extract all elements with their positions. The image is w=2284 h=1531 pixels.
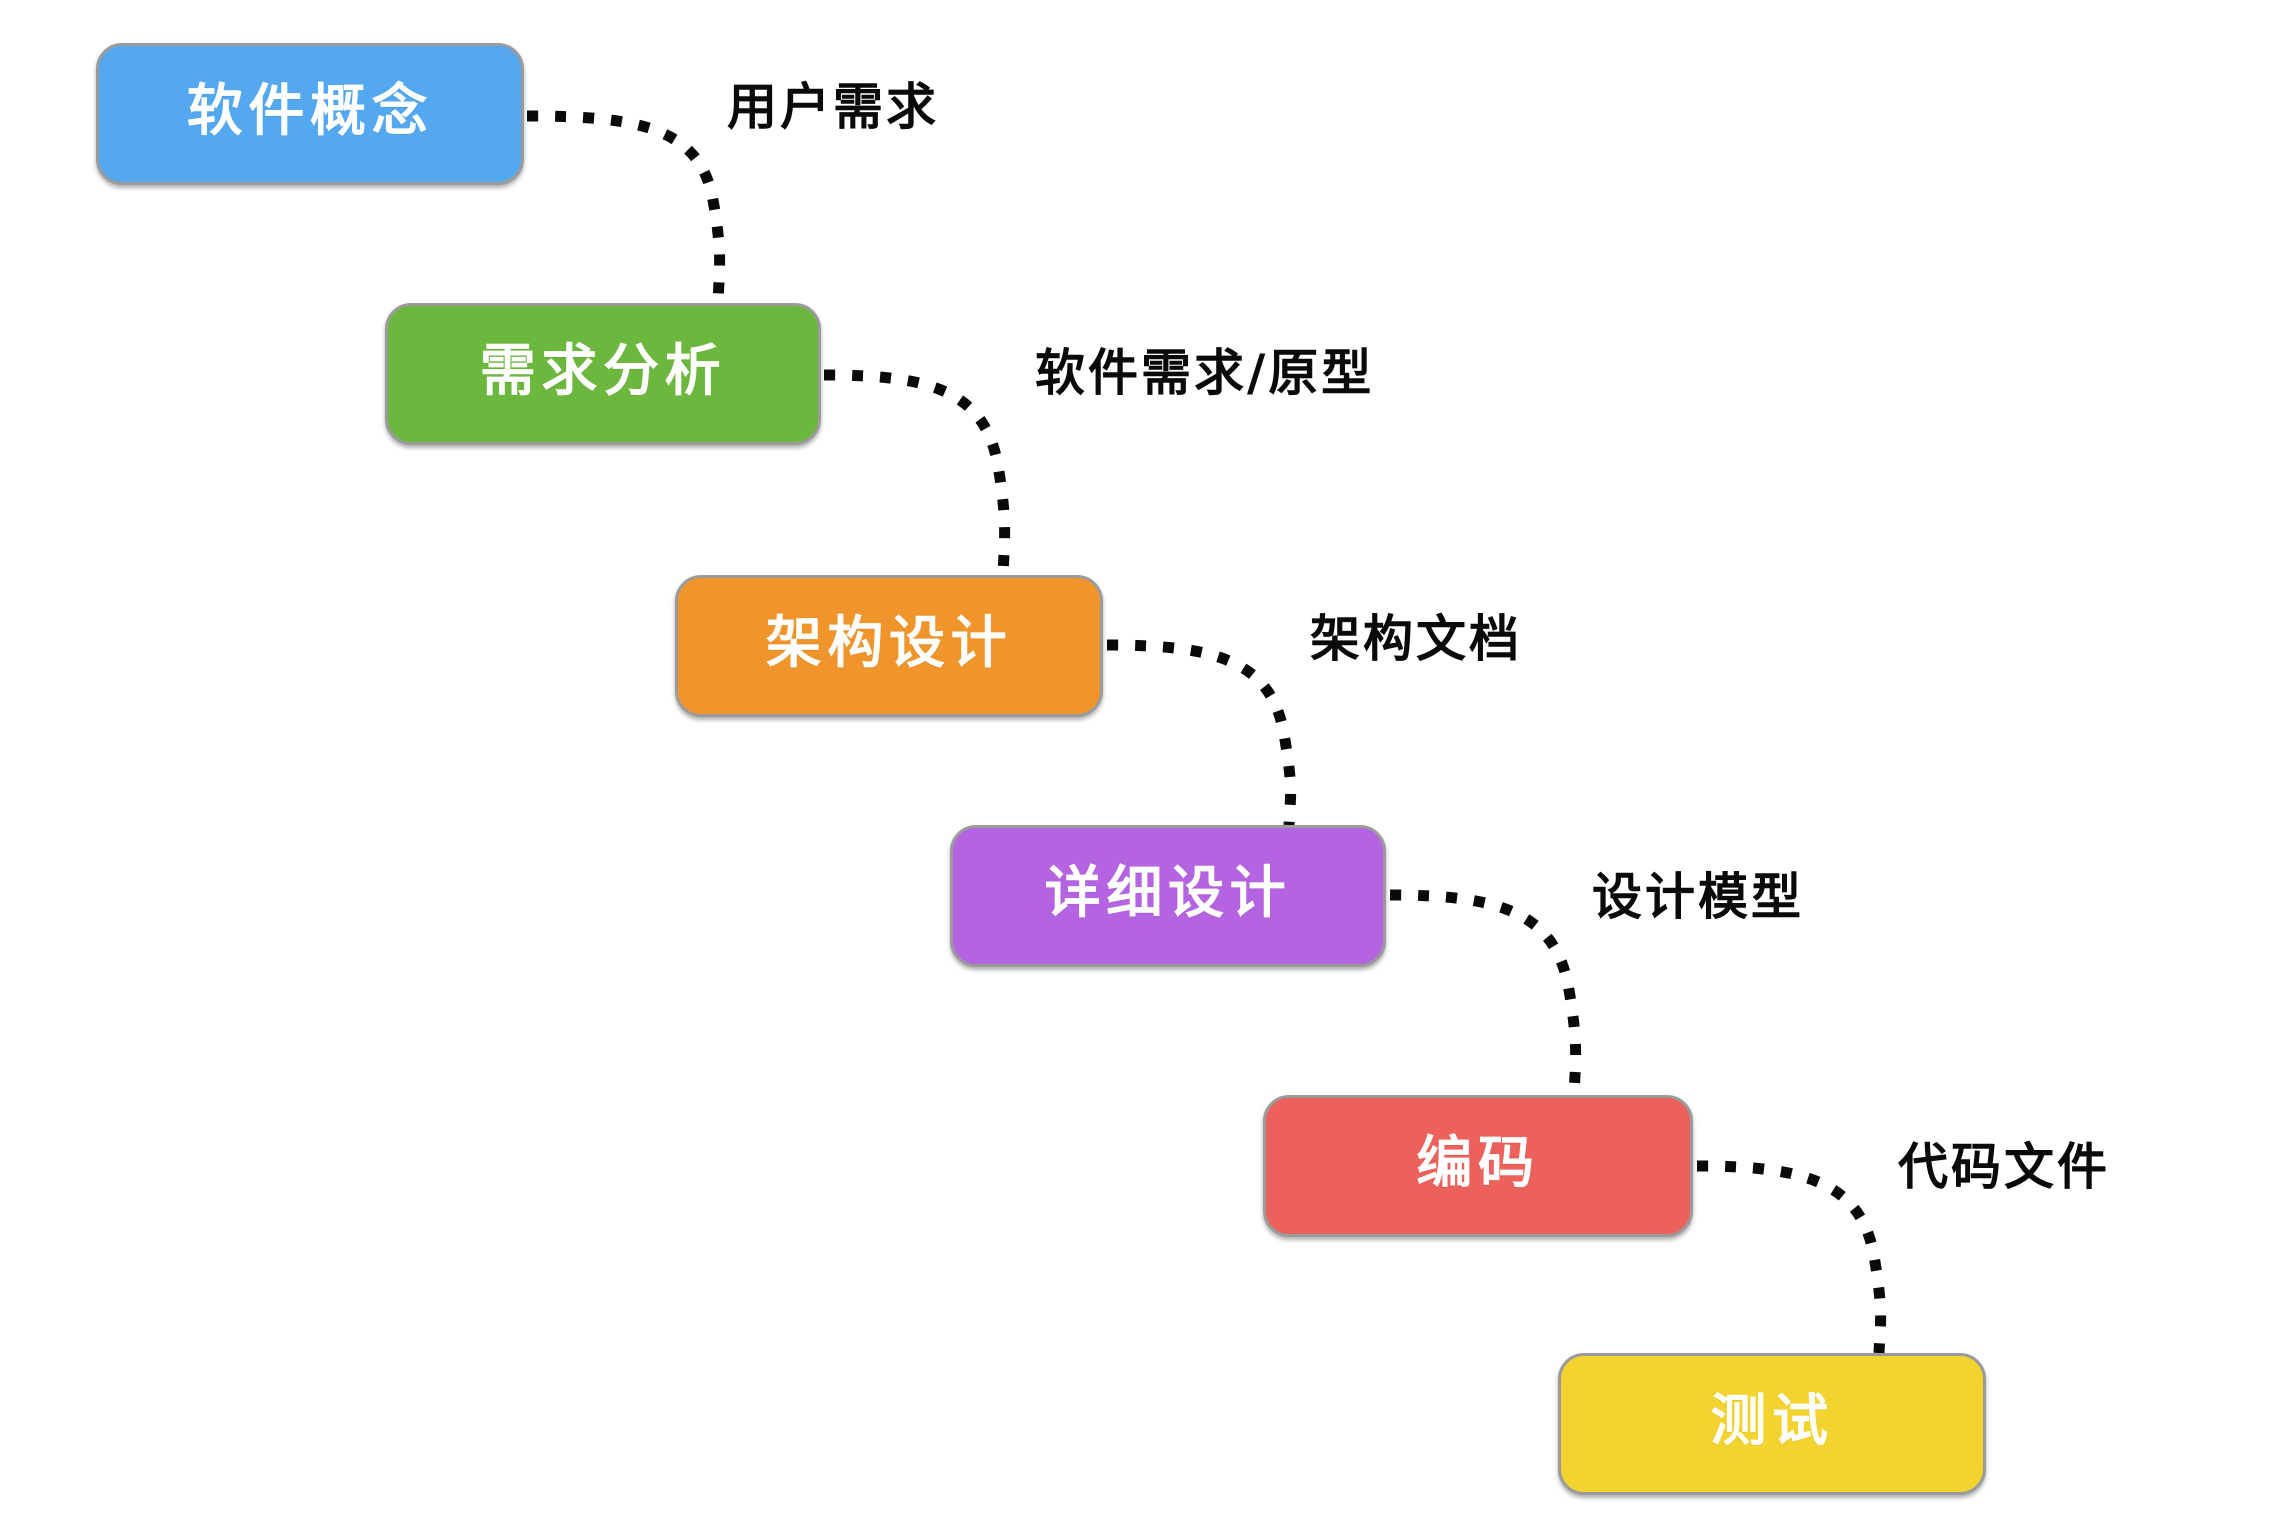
node-label: 软件概念	[187, 84, 433, 144]
edge-label-coding-to-testing: 代码文件	[1898, 1142, 2110, 1192]
node-label: 编码	[1416, 1136, 1539, 1196]
node-architecture-design[interactable]: 架构设计	[675, 575, 1103, 717]
node-label: 需求分析	[480, 344, 726, 404]
edge-coding-to-testing	[1697, 1166, 1881, 1353]
node-label: 详细设计	[1045, 866, 1291, 926]
edge-layer	[0, 0, 2284, 1531]
node-label: 架构设计	[766, 616, 1012, 676]
edge-architecture-to-detailed	[1107, 645, 1291, 825]
edge-requirements-to-architecture	[824, 375, 1005, 575]
node-software-concept[interactable]: 软件概念	[96, 43, 524, 185]
node-label: 测试	[1710, 1394, 1833, 1454]
node-testing[interactable]: 测试	[1558, 1353, 1986, 1495]
edge-label-detailed-design-to-coding: 设计模型	[1592, 872, 1804, 922]
node-requirements-analysis[interactable]: 需求分析	[385, 303, 821, 445]
node-detailed-design[interactable]: 详细设计	[950, 825, 1386, 967]
edge-label-architecture-design-to-detailed-design: 架构文档	[1310, 614, 1522, 664]
edge-label-requirements-analysis-to-architecture-design: 软件需求/原型	[1035, 348, 1374, 398]
edge-concept-to-requirements	[527, 116, 720, 303]
node-coding[interactable]: 编码	[1263, 1095, 1693, 1237]
edge-detailed-to-coding	[1390, 895, 1576, 1095]
edge-label-software-concept-to-requirements-analysis: 用户需求	[727, 82, 939, 132]
waterfall-diagram-canvas: 软件概念需求分析架构设计详细设计编码测试 用户需求软件需求/原型架构文档设计模型…	[0, 0, 2284, 1531]
